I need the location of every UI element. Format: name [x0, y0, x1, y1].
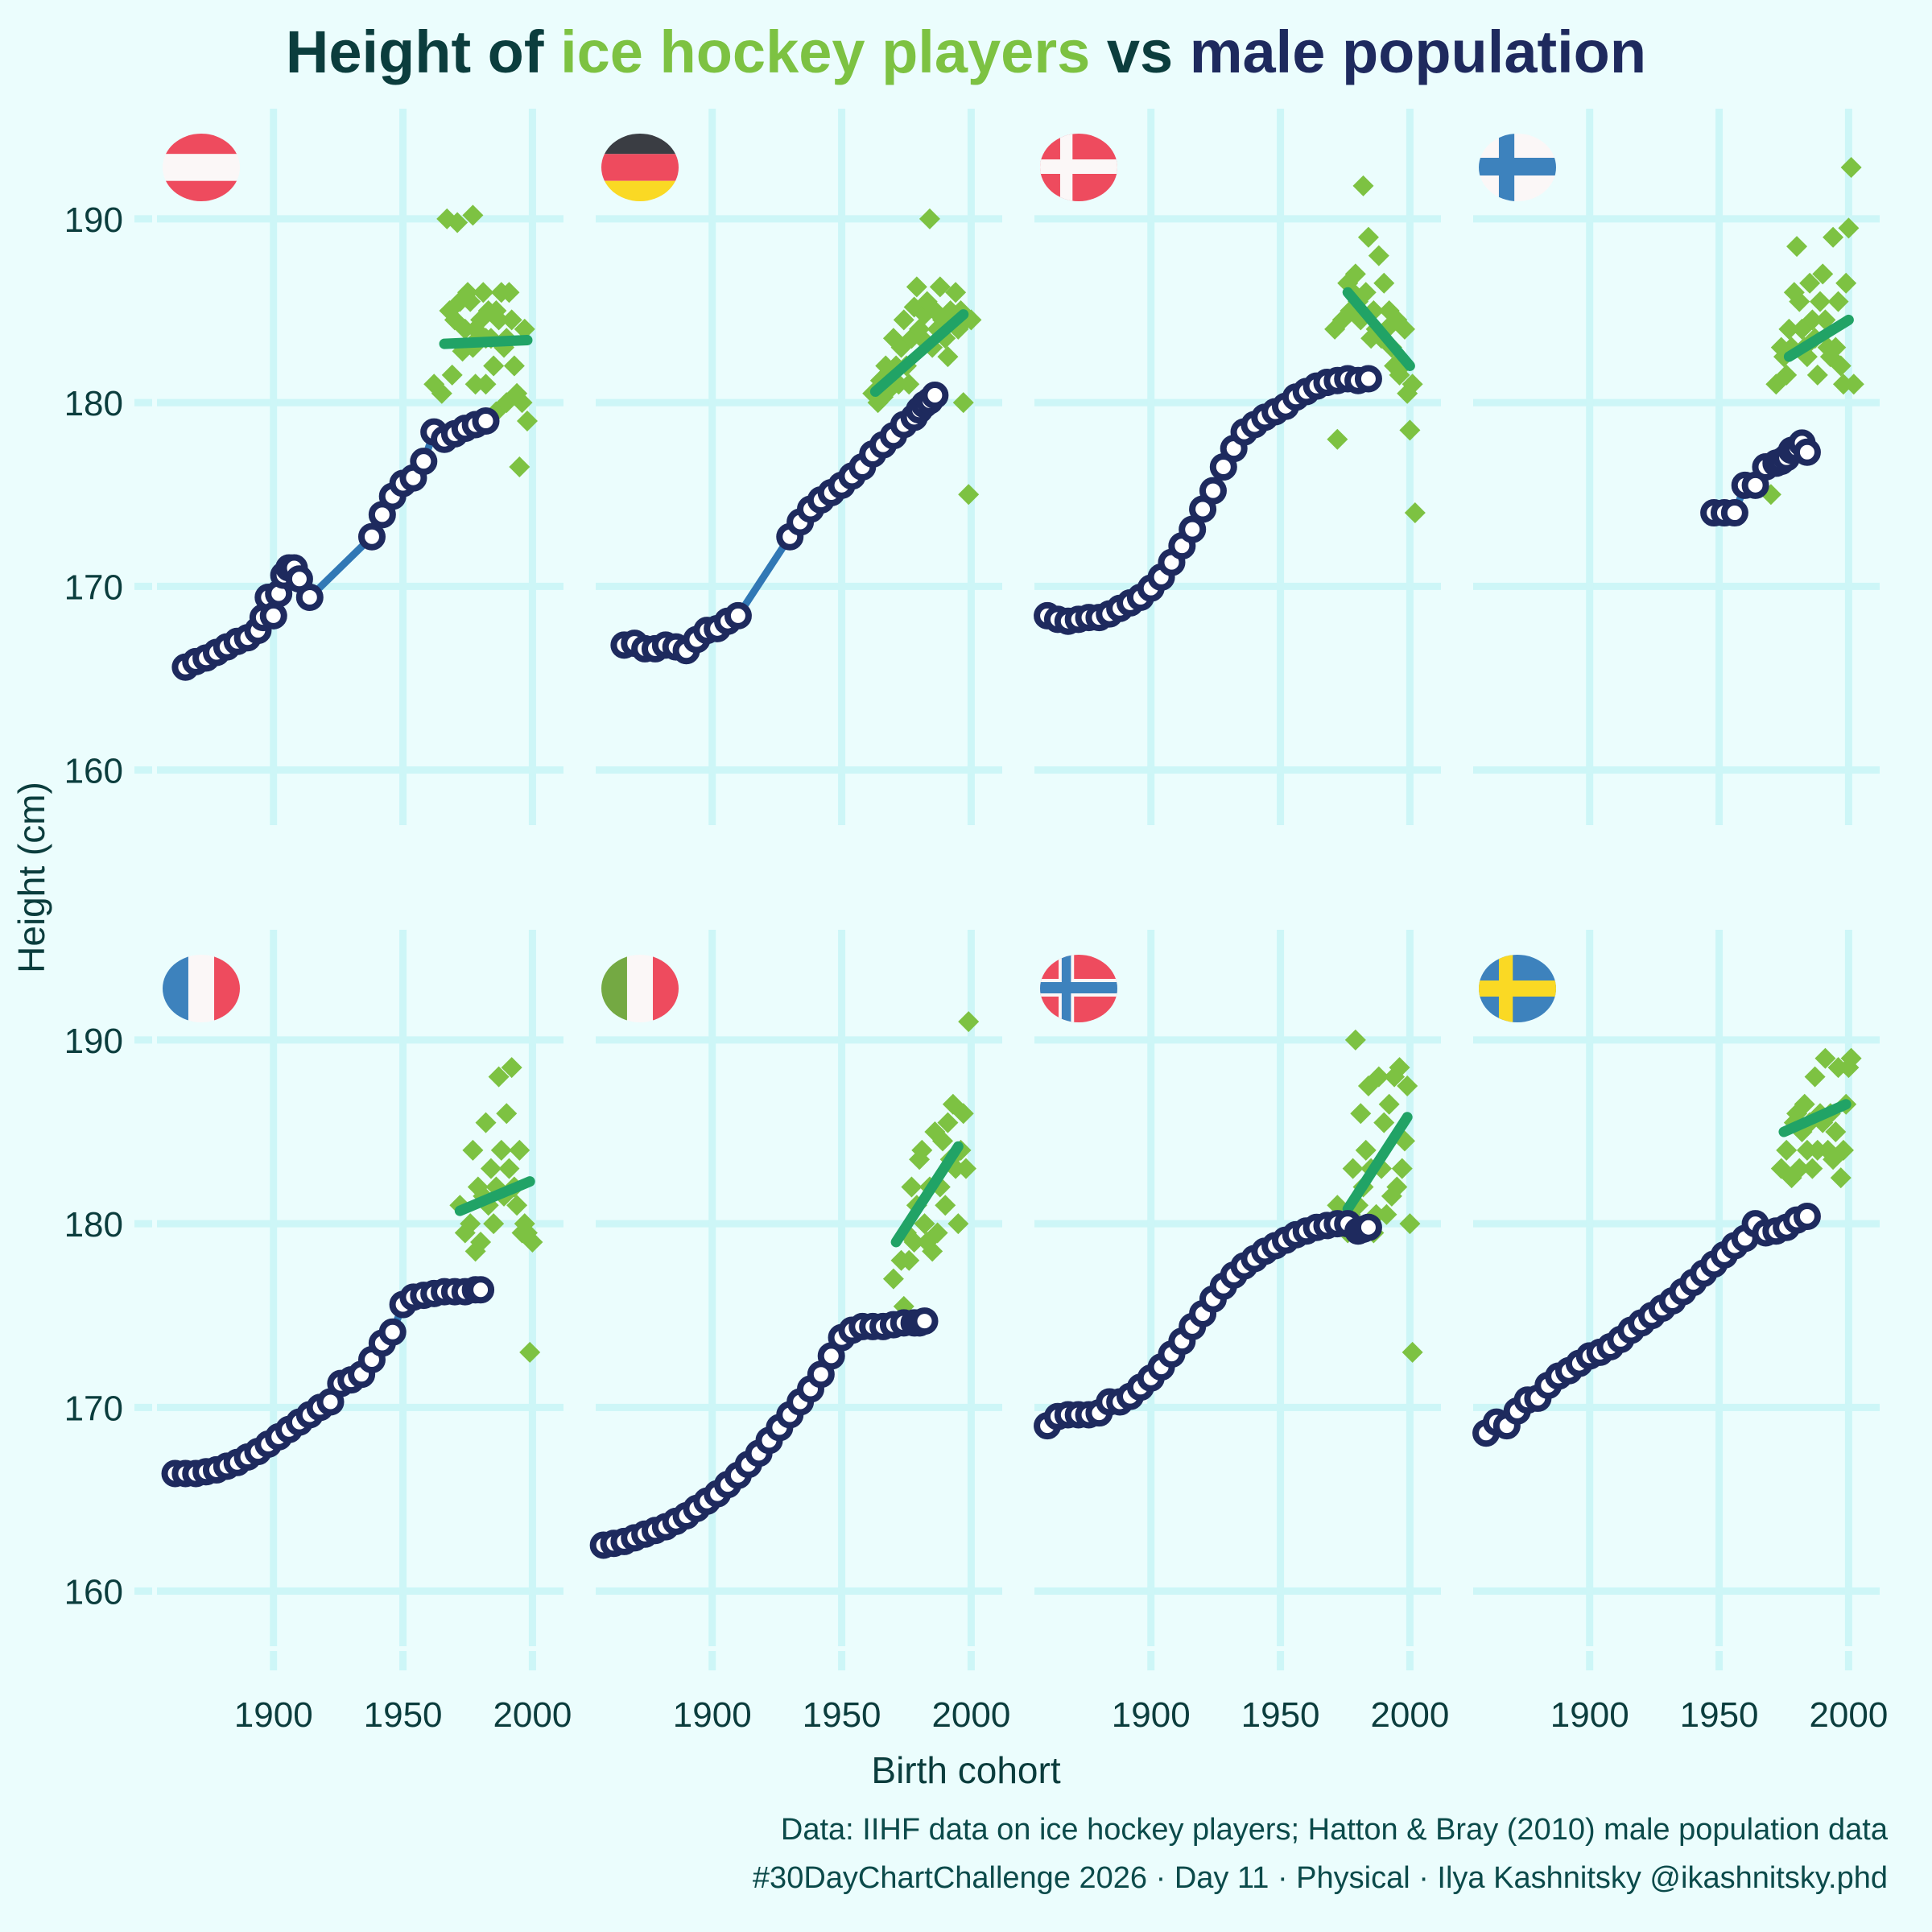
page-title: Height of ice hockey players vs male pop…	[286, 19, 1646, 85]
player-trend-line	[444, 341, 527, 345]
population-point	[382, 1322, 403, 1343]
x-tick-label: 2000	[493, 1695, 572, 1735]
population-point	[1358, 1217, 1379, 1238]
x-tick-label: 2000	[931, 1695, 1010, 1735]
x-tick-label: 1950	[1241, 1695, 1320, 1735]
population-point	[1797, 1206, 1818, 1227]
faceted-scatter-chart: Height of ice hockey players vs male pop…	[0, 0, 1932, 1932]
x-tick-label: 1950	[803, 1695, 881, 1735]
y-tick-label: 160	[64, 1573, 123, 1612]
y-tick-label: 170	[64, 568, 123, 607]
population-point	[924, 385, 945, 406]
population-point	[1203, 481, 1224, 502]
population-point	[361, 526, 382, 547]
population-point	[470, 1279, 491, 1300]
x-tick-label: 1950	[1680, 1695, 1759, 1735]
x-tick-label: 1900	[1112, 1695, 1191, 1735]
y-tick-label: 160	[64, 752, 123, 791]
y-tick-label: 190	[64, 200, 123, 240]
y-tick-label: 170	[64, 1389, 123, 1428]
population-point	[728, 605, 749, 626]
population-point	[476, 411, 497, 431]
y-tick-label: 190	[64, 1022, 123, 1061]
caption-line-2: #30DayChartChallenge 2026 · Day 11 · Phy…	[753, 1861, 1888, 1895]
y-tick-label: 180	[64, 1205, 123, 1245]
population-point	[1358, 368, 1379, 389]
y-axis-title: Height (cm)	[10, 782, 52, 973]
x-tick-label: 2000	[1809, 1695, 1888, 1735]
population-point	[413, 451, 434, 472]
x-tick-label: 1900	[234, 1695, 313, 1735]
population-point	[914, 1311, 935, 1331]
x-tick-label: 1900	[1550, 1695, 1629, 1735]
chart-root: Height of ice hockey players vs male pop…	[0, 0, 1932, 1932]
population-point	[1797, 442, 1818, 463]
chart-background	[0, 0, 1932, 1932]
x-axis-title: Birth cohort	[871, 1749, 1060, 1791]
x-tick-label: 1900	[673, 1695, 752, 1735]
x-tick-label: 2000	[1370, 1695, 1449, 1735]
caption-line-1: Data: IIHF data on ice hockey players; H…	[781, 1813, 1889, 1847]
population-point	[1724, 502, 1745, 523]
x-tick-label: 1950	[364, 1695, 443, 1735]
population-point	[299, 587, 320, 608]
y-tick-label: 180	[64, 384, 123, 423]
population-point	[263, 605, 284, 626]
